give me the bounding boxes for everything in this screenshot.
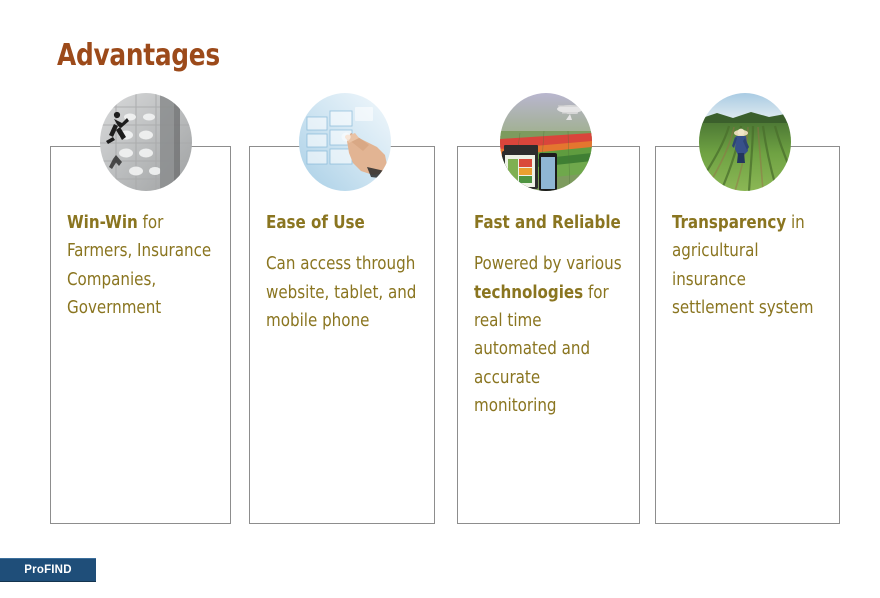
advantage-statement-win-win: Win-Win for Farmers, Insurance Companies…	[67, 209, 214, 322]
advantage-text-fast-and-reliable: Fast and Reliable Powered by various tec…	[474, 209, 623, 420]
advantage-body-fast-and-reliable: Powered by various technologies for real…	[474, 250, 623, 420]
advantage-heading-ease-of-use: Ease of Use	[266, 209, 418, 237]
advantage-box-transparency: Transparency in agricultural insurance s…	[655, 146, 840, 524]
hand-touchscreen-illustration	[299, 93, 391, 191]
advantage-text-transparency: Transparency in agricultural insurance s…	[672, 209, 823, 322]
drone-farmland-heatmap-illustration	[500, 93, 592, 191]
hand-touchscreen-photo	[299, 93, 391, 191]
footer-brand-badge: ProFIND	[0, 558, 96, 582]
advantage-text-ease-of-use: Ease of Use Can access through website, …	[266, 209, 418, 335]
advantage-lead-win-win: Win-Win	[67, 213, 138, 233]
slide-canvas: Advantages Win-Win for Farmers, Insuranc…	[0, 0, 880, 598]
advantage-body-ease-of-use: Can access through website, tablet, and …	[266, 250, 418, 335]
advantage-body-pre: Powered by various	[474, 254, 622, 274]
drone-farmland-heatmap-photo	[500, 93, 592, 191]
page-title: Advantages	[57, 38, 220, 73]
advantage-text-win-win: Win-Win for Farmers, Insurance Companies…	[67, 209, 214, 322]
advantage-heading-fast-and-reliable: Fast and Reliable	[474, 209, 623, 237]
advantage-lead-transparency: Transparency	[672, 213, 786, 233]
advantage-box-fast-and-reliable: Fast and Reliable Powered by various tec…	[457, 146, 640, 524]
advantage-lead-ease-of-use: Ease of Use	[266, 213, 365, 233]
advantage-box-ease-of-use: Ease of Use Can access through website, …	[249, 146, 435, 524]
running-person-grayscale-illustration	[100, 93, 192, 191]
farmer-in-field-photo	[699, 93, 791, 191]
advantage-lead-fast-and-reliable: Fast and Reliable	[474, 213, 621, 233]
farmer-in-field-illustration	[699, 93, 791, 191]
advantage-box-win-win: Win-Win for Farmers, Insurance Companies…	[50, 146, 231, 524]
footer-brand-label: ProFIND	[24, 564, 71, 576]
running-person-grayscale-photo	[100, 93, 192, 191]
advantage-statement-transparency: Transparency in agricultural insurance s…	[672, 209, 823, 322]
advantage-body-emphasis-technologies: technologies	[474, 283, 583, 303]
